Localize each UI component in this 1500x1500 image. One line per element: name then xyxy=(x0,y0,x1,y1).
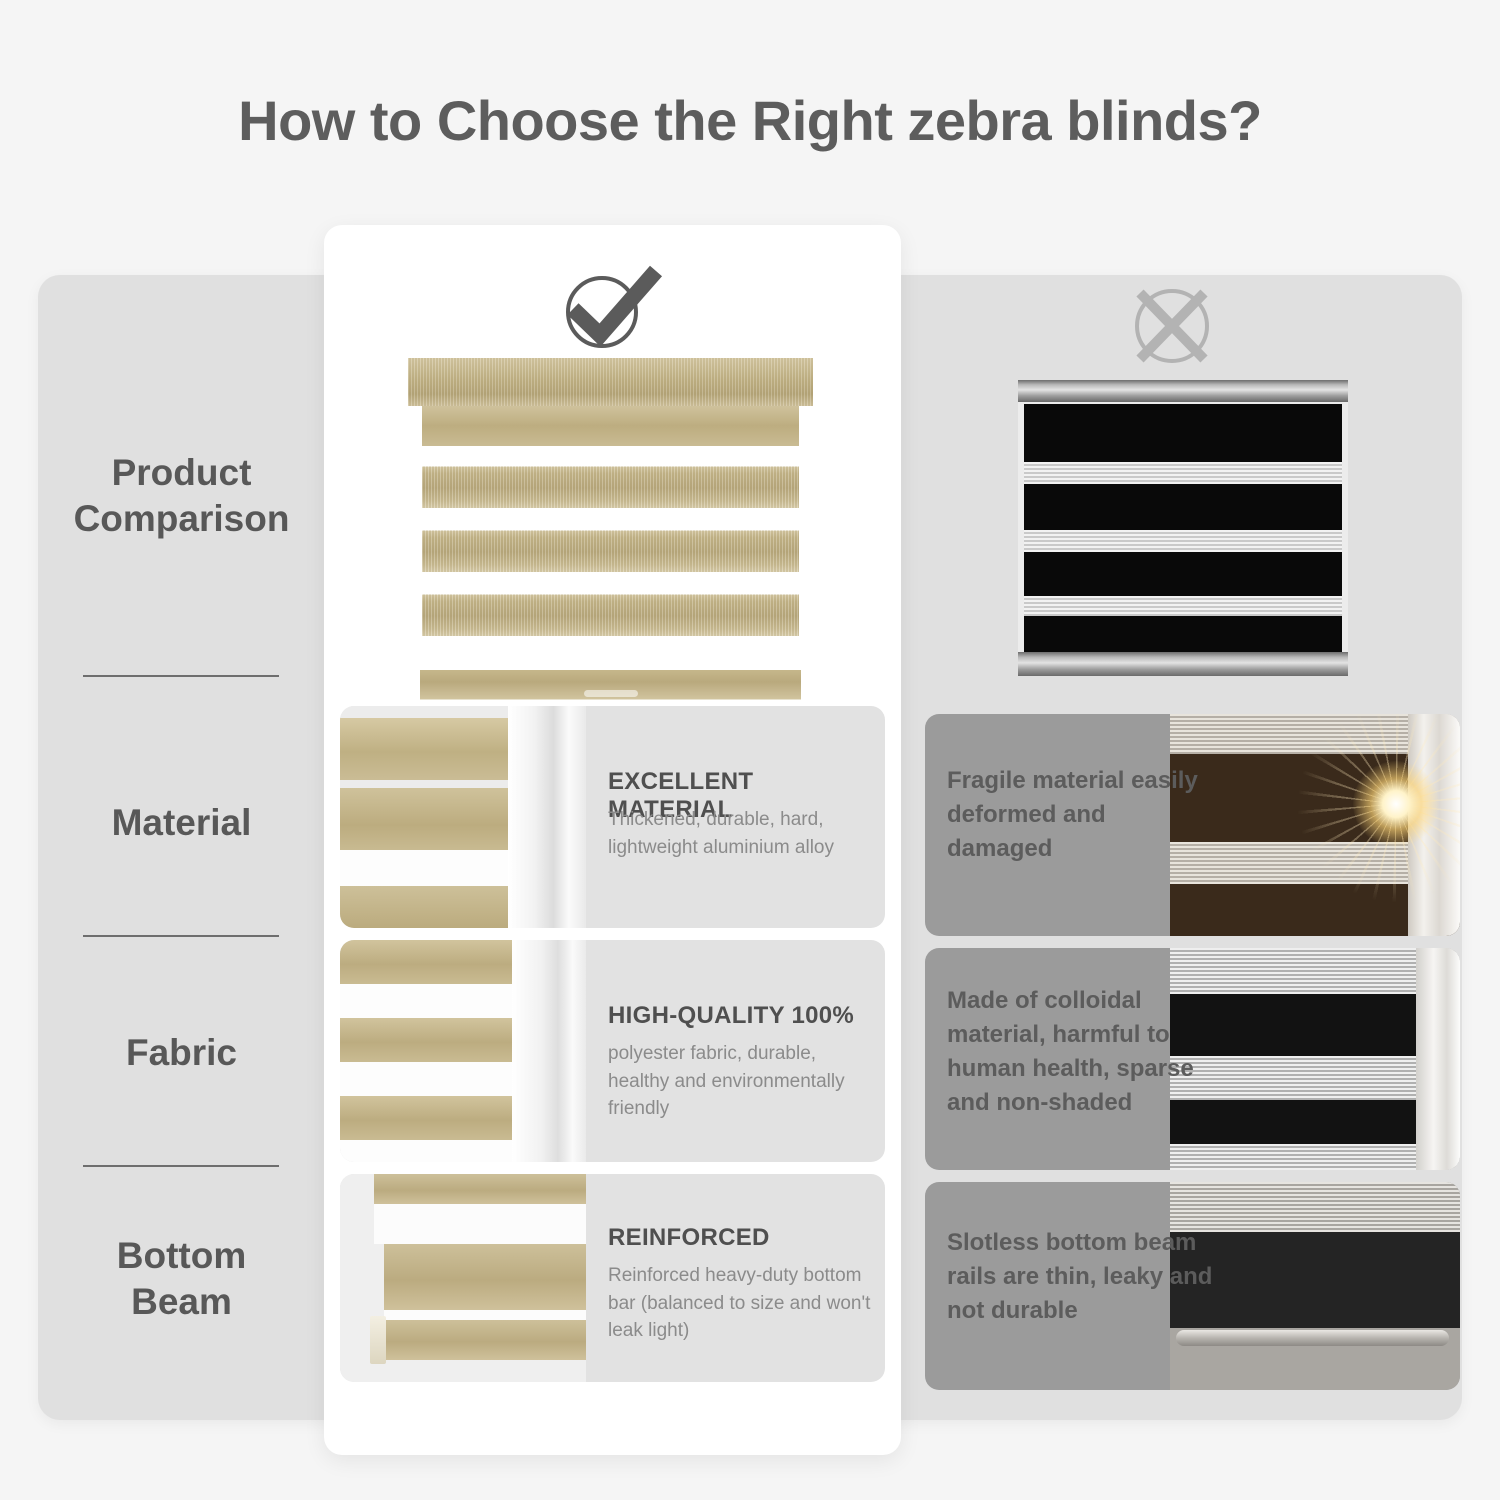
blind-slat xyxy=(340,788,512,850)
gold-blind-headrail-closeup-photo xyxy=(340,706,586,928)
row-label-line-1: Product xyxy=(112,452,252,493)
good-feature-material: EXCELLENT MATERIAL Thickened, durable, h… xyxy=(340,706,885,928)
blind-bottom-bar xyxy=(420,670,801,700)
window-frame xyxy=(508,706,586,928)
blind-black-band xyxy=(1024,404,1342,462)
blind-sheer-gap xyxy=(384,1310,586,1320)
blind-slat xyxy=(340,886,512,928)
blind-bottom-bar xyxy=(380,1320,586,1360)
row-label-bottom-beam: Bottom Beam xyxy=(38,1233,325,1325)
blind-slat xyxy=(340,1018,516,1062)
row-divider-2 xyxy=(83,935,279,937)
bad-feature-text: Slotless bottom beam rails are thin, lea… xyxy=(947,1226,1217,1328)
row-label-material: Material xyxy=(38,800,325,846)
window-frame xyxy=(512,940,586,1162)
gold-blind-fabric-closeup-photo xyxy=(340,940,586,1162)
bad-feature-text: Fragile material easily deformed and dam… xyxy=(947,764,1217,866)
good-feature-fabric: HIGH-QUALITY 100% polyester fabric, dura… xyxy=(340,940,885,1162)
page-title: How to Choose the Right zebra blinds? xyxy=(0,88,1500,153)
row-label-line-2: Comparison xyxy=(74,498,290,539)
blind-sheer-band xyxy=(1024,596,1342,616)
bottom-bar-end-cap xyxy=(370,1316,386,1364)
feature-title: HIGH-QUALITY 100% xyxy=(608,1002,880,1030)
row-divider-1 xyxy=(83,675,279,677)
thin-bottom-rail xyxy=(1176,1330,1449,1346)
sun-glare-icon xyxy=(1353,761,1439,847)
feature-body: polyester fabric, durable, healthy and e… xyxy=(608,1040,876,1123)
blind-sheer-band xyxy=(1024,462,1342,484)
row-label-product-comparison: Product Comparison xyxy=(38,450,325,542)
row-label-line-1: Bottom xyxy=(117,1235,246,1276)
gold-zebra-blind-product-photo xyxy=(408,358,813,700)
check-circle-icon xyxy=(555,262,665,354)
row-label-line-1: Material xyxy=(112,802,252,843)
feature-body: Thickened, durable, hard, lightweight al… xyxy=(608,806,876,861)
feature-copy: REINFORCED Reinforced heavy-duty bottom … xyxy=(608,1174,880,1382)
blind-black-band xyxy=(1024,484,1342,530)
blind-handle xyxy=(584,690,638,697)
window-frame xyxy=(1416,948,1460,1170)
blind-slat xyxy=(422,530,799,572)
blind-slat xyxy=(422,466,799,508)
row-divider-3 xyxy=(83,1165,279,1167)
row-label-column: Product Comparison Material Fabric Botto… xyxy=(38,275,325,1420)
blind-black-band xyxy=(1024,616,1342,652)
blind-sheer-gap xyxy=(340,984,516,1018)
bad-feature-bottom-beam: Slotless bottom beam rails are thin, lea… xyxy=(925,1182,1460,1390)
blind-slat xyxy=(340,1096,516,1140)
feature-body: Reinforced heavy-duty bottom bar (balanc… xyxy=(608,1262,876,1345)
bad-feature-material: Fragile material easily deformed and dam… xyxy=(925,714,1460,936)
row-label-line-2: Beam xyxy=(131,1281,232,1322)
row-label-fabric: Fabric xyxy=(38,1030,325,1076)
feature-title: REINFORCED xyxy=(608,1224,880,1252)
bad-feature-fabric: Made of colloidal material, harmful to h… xyxy=(925,948,1460,1170)
blind-sheer-gap xyxy=(374,1204,586,1244)
blind-slat xyxy=(340,940,516,984)
blind-sheer-band xyxy=(1024,530,1342,552)
good-feature-bottom-beam: REINFORCED Reinforced heavy-duty bottom … xyxy=(340,1174,885,1382)
blind-sheer-band xyxy=(1170,1182,1460,1232)
blind-slat xyxy=(422,594,799,636)
black-zebra-blind-product-photo xyxy=(1018,380,1348,676)
blind-slat xyxy=(374,1174,586,1204)
blind-headrail xyxy=(340,718,516,780)
blind-top-rail xyxy=(1018,380,1348,402)
blind-headrail xyxy=(408,358,813,406)
gold-blind-bottom-bar-photo xyxy=(340,1174,586,1382)
feature-copy: EXCELLENT MATERIAL Thickened, durable, h… xyxy=(608,706,880,928)
cross-circle-icon xyxy=(1126,282,1218,368)
blind-sheer-gap xyxy=(340,1062,516,1096)
blind-slat xyxy=(384,1244,586,1310)
blind-black-band xyxy=(1024,552,1342,596)
row-label-line-1: Fabric xyxy=(126,1032,237,1073)
blind-sheer-gap xyxy=(340,1140,516,1162)
blind-top-slat xyxy=(422,406,799,446)
blind-bottom-rail xyxy=(1018,652,1348,676)
bad-feature-text: Made of colloidal material, harmful to h… xyxy=(947,984,1217,1120)
blind-sheer-gap xyxy=(340,850,512,886)
feature-copy: HIGH-QUALITY 100% polyester fabric, dura… xyxy=(608,940,880,1162)
